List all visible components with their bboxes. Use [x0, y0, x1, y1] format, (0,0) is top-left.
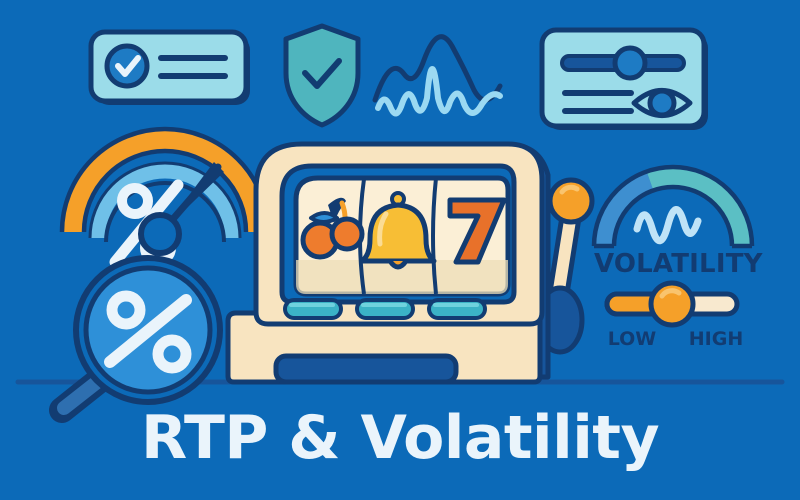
slider-min-label: LOW [600, 328, 664, 350]
payout-slot [276, 356, 456, 382]
card-line-2 [158, 73, 228, 79]
slot-buttons[interactable] [285, 300, 485, 318]
card-line-1 [158, 55, 228, 61]
illustration-canvas: VOLATILITY LOW HIGH RTP & Volatility [0, 0, 800, 500]
slot-button-1[interactable] [285, 300, 341, 318]
slot-button-3[interactable] [429, 300, 485, 318]
settings-line-2 [562, 108, 634, 114]
slot-button-2[interactable] [357, 300, 413, 318]
verification-card[interactable] [91, 32, 250, 105]
page-title: RTP & Volatility [0, 403, 800, 473]
slider-max-label: HIGH [682, 328, 750, 350]
volatility-label: VOLATILITY [594, 249, 752, 279]
settings-line-1 [562, 90, 634, 96]
slot-machine[interactable] [228, 144, 592, 382]
eye-icon[interactable] [634, 91, 690, 116]
check-circle-icon [107, 46, 147, 86]
settings-card[interactable] [542, 30, 708, 130]
